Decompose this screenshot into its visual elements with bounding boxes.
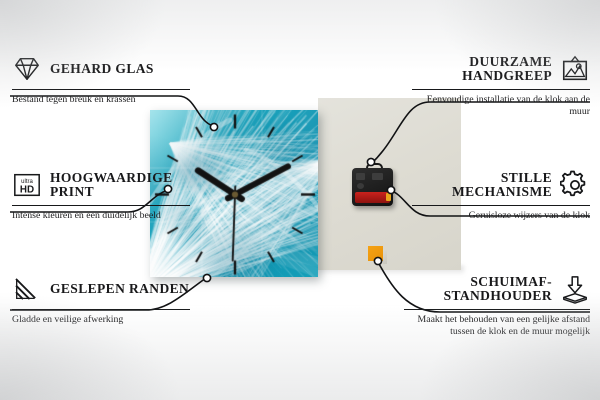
feature-description: Geruisloze wijzers van de klok bbox=[412, 210, 590, 222]
feature-title: STILLE MECHANISME bbox=[412, 171, 552, 200]
battery bbox=[355, 192, 390, 203]
feature-header: GEHARD GLAS bbox=[12, 52, 190, 86]
foam-spacer bbox=[368, 246, 383, 261]
svg-text:HD: HD bbox=[20, 185, 34, 196]
mechanism-detail bbox=[356, 173, 365, 180]
feature-title: SCHUIMAF-STANDHOUDER bbox=[404, 275, 552, 304]
feature-divider bbox=[12, 89, 190, 90]
feature-divider bbox=[12, 309, 190, 310]
feature-title: GESLEPEN RANDEN bbox=[50, 282, 189, 297]
gear-icon bbox=[560, 170, 590, 200]
feature-header: ultra HD HOOGWAARDIGE PRINT bbox=[12, 168, 190, 202]
feature-schuimaf-standhouder: SCHUIMAF-STANDHOUDER Maakt het behouden … bbox=[404, 272, 590, 338]
feature-divider bbox=[412, 89, 590, 90]
ultra-hd-icon: ultra HD bbox=[12, 170, 42, 200]
feature-description: Eenvoudige installatie van de klok aan d… bbox=[412, 94, 590, 118]
feature-title: GEHARD GLAS bbox=[50, 62, 154, 77]
feature-header: GESLEPEN RANDEN bbox=[12, 272, 190, 306]
foam-holder-icon bbox=[560, 274, 590, 304]
feature-description: Intense kleuren en een duidelijk beeld bbox=[12, 210, 190, 222]
mechanism-detail bbox=[372, 173, 383, 180]
feature-description: Gladde en veilige afwerking bbox=[12, 314, 190, 326]
feature-stille-mechanisme: STILLE MECHANISME Geruisloze wijzers van… bbox=[412, 168, 590, 222]
feature-description: Maakt het behouden van een gelijke afsta… bbox=[404, 314, 590, 338]
battery-terminal bbox=[386, 193, 391, 201]
feature-title: HOOGWAARDIGE PRINT bbox=[50, 171, 190, 200]
beveled-edges-icon bbox=[12, 274, 42, 304]
feature-header: STILLE MECHANISME bbox=[412, 168, 590, 202]
feature-title: DUURZAME HANDGREEP bbox=[412, 55, 552, 84]
feature-gehard-glas: GEHARD GLAS Bestand tegen breuk en krass… bbox=[12, 52, 190, 106]
feature-divider bbox=[404, 309, 590, 310]
feature-description: Bestand tegen breuk en krassen bbox=[12, 94, 190, 106]
feature-duurzame-handgreep: DUURZAME HANDGREEP Eenvoudige installati… bbox=[412, 52, 590, 118]
framed-picture-icon bbox=[560, 54, 590, 84]
feature-divider bbox=[12, 205, 190, 206]
feature-hoogwaardige-print: ultra HD HOOGWAARDIGE PRINT Intense kleu… bbox=[12, 168, 190, 222]
feature-header: DUURZAME HANDGREEP bbox=[412, 52, 590, 86]
foam-spacer-side bbox=[383, 249, 387, 264]
mechanism-detail bbox=[357, 183, 364, 189]
feature-divider bbox=[412, 205, 590, 206]
feature-geslepen-randen: GESLEPEN RANDEN Gladde en veilige afwerk… bbox=[12, 272, 190, 326]
feature-header: SCHUIMAF-STANDHOUDER bbox=[404, 272, 590, 306]
infographic-canvas: GEHARD GLAS Bestand tegen breuk en krass… bbox=[0, 0, 600, 400]
diamond-icon bbox=[12, 54, 42, 84]
